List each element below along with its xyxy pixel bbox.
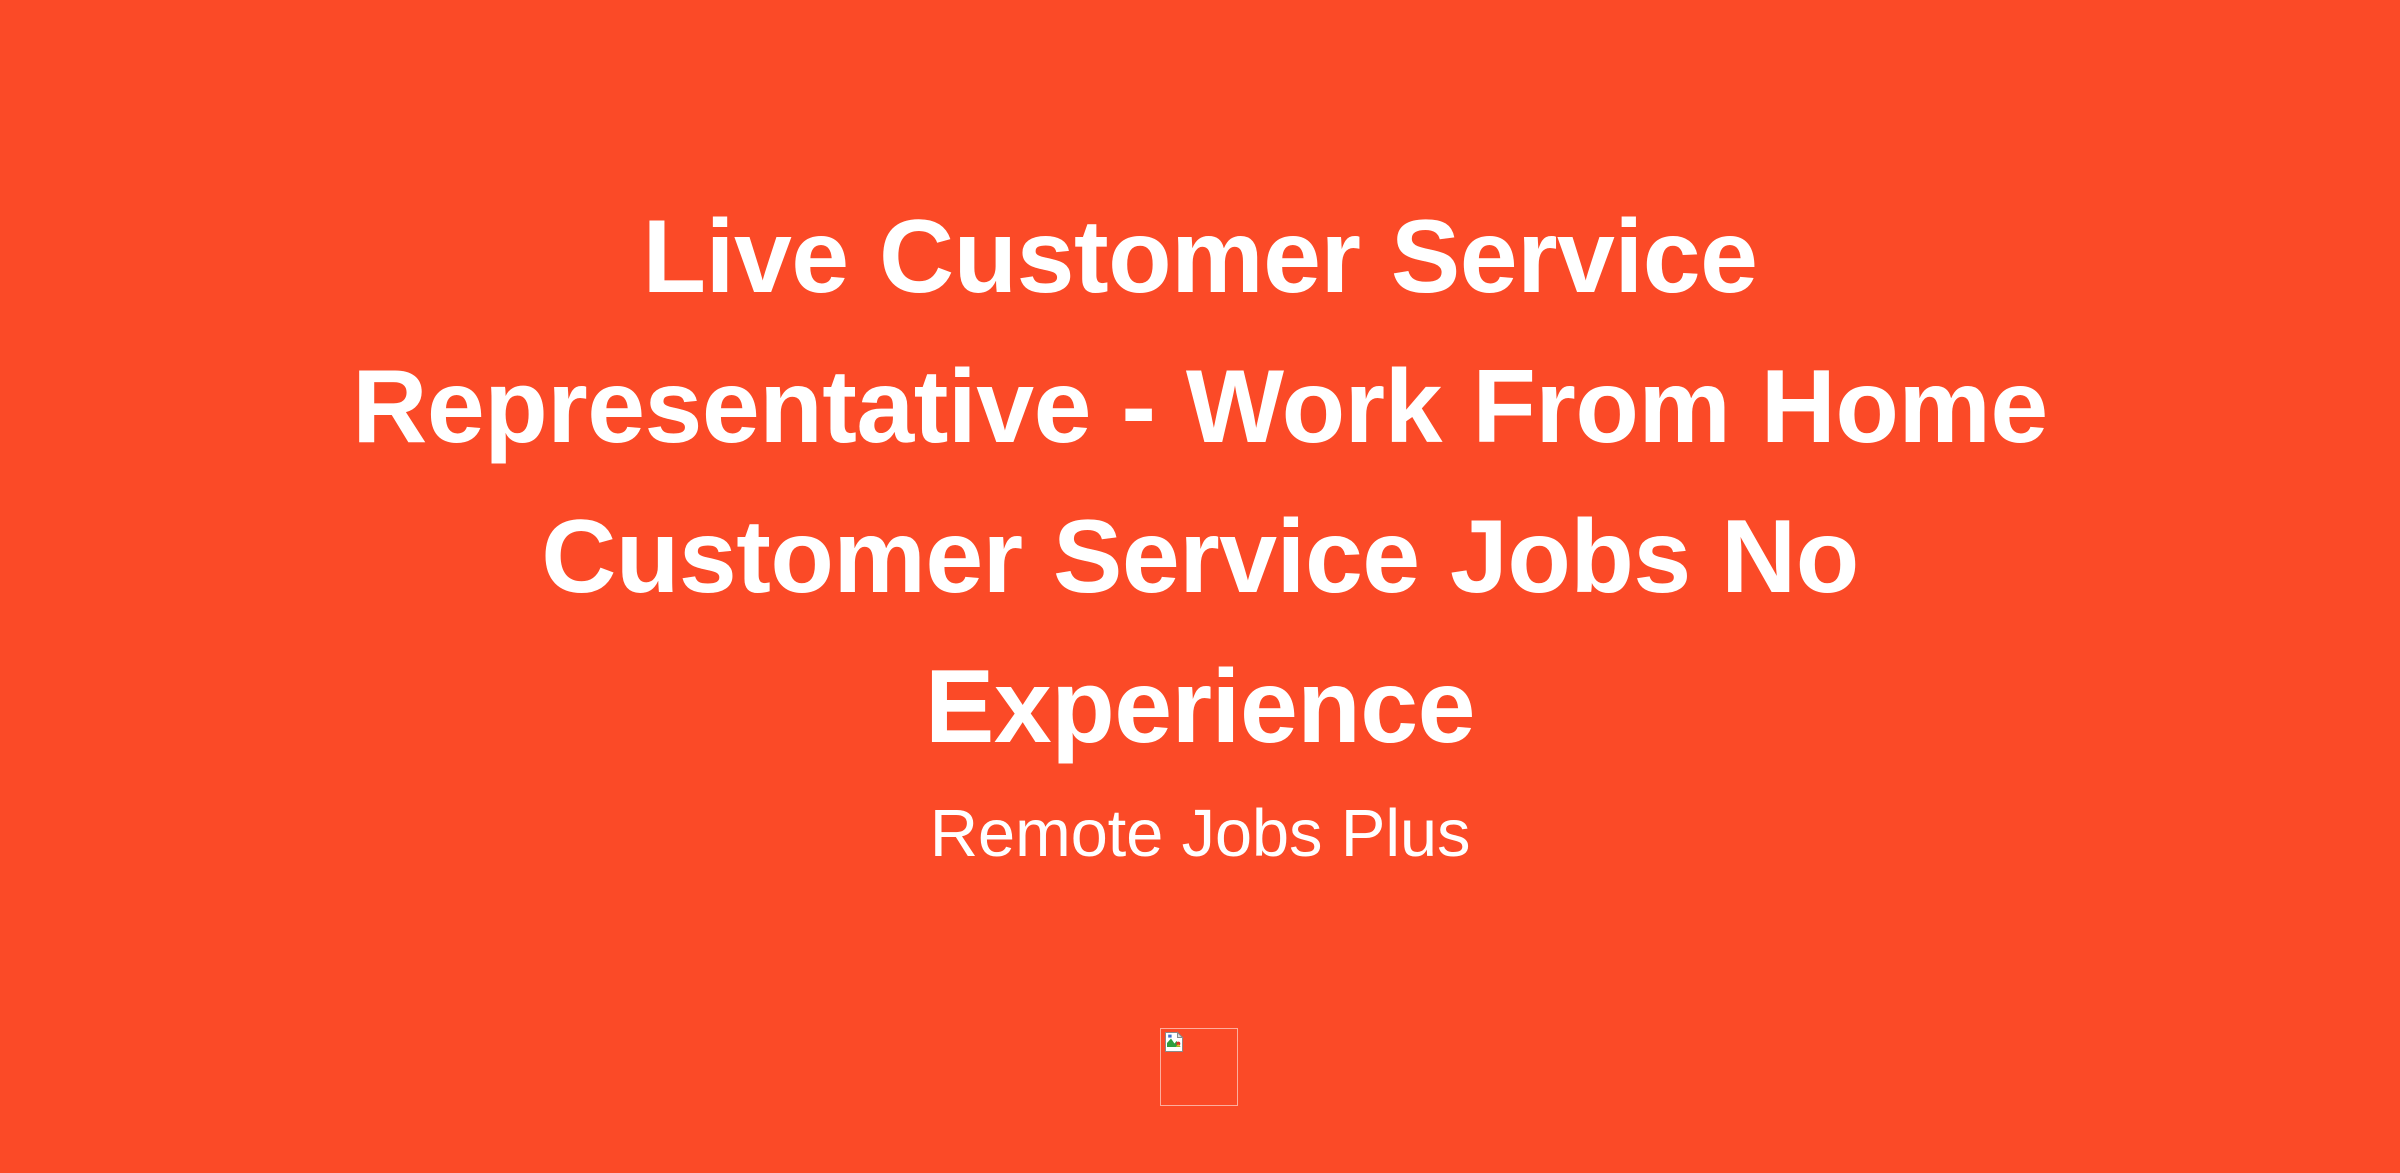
broken-image-placeholder xyxy=(1160,1028,1238,1106)
page-title: Live Customer Service Representative - W… xyxy=(350,182,2050,782)
page-subtitle: Remote Jobs Plus xyxy=(930,790,1471,878)
page-content: Live Customer Service Representative - W… xyxy=(0,0,2400,1173)
page-root: Live Customer Service Representative - W… xyxy=(0,0,2400,1173)
broken-image-icon xyxy=(1164,1031,1186,1053)
